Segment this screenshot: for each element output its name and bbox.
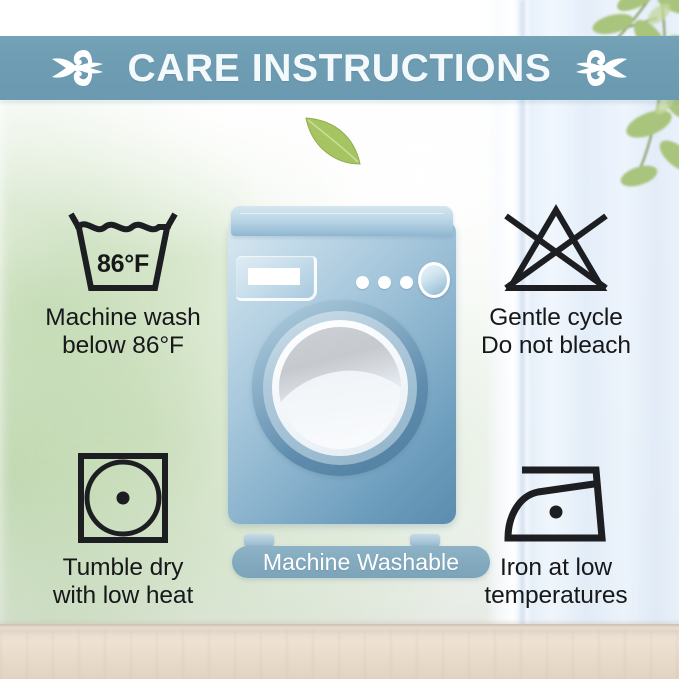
washing-machine-illustration <box>228 206 456 536</box>
care-symbol-machine-wash: 86°F Machine wash below 86°F <box>8 192 238 360</box>
wash-temperature-value: 86°F <box>65 250 181 279</box>
care-symbol-label-machine-wash: Machine wash below 86°F <box>8 304 238 360</box>
do-not-bleach-triangle-icon <box>498 202 614 296</box>
washer-body <box>228 222 456 524</box>
washer-indicator-dot <box>400 276 413 289</box>
washer-door-outer-ring <box>252 300 428 476</box>
header-banner: CARE INSTRUCTIONS <box>0 36 679 100</box>
fleur-de-lis-icon-left <box>51 46 109 90</box>
wash-tub-icon: 86°F <box>65 206 181 296</box>
washer-indicator-dot <box>378 276 391 289</box>
iron-low-temperature-icon <box>500 462 612 546</box>
washer-door-white-ring <box>272 320 408 456</box>
washer-detergent-drawer <box>236 256 317 301</box>
washer-control-knob <box>418 262 450 298</box>
washer-top-lid <box>231 206 453 236</box>
tumble-dry-low-icon <box>75 450 171 546</box>
floating-leaf-icon <box>300 114 368 176</box>
care-symbol-do-not-bleach: Gentle cycle Do not bleach <box>441 192 671 360</box>
care-symbol-tumble-dry: Tumble dry with low heat <box>8 442 238 610</box>
washer-door-mid-ring <box>263 311 417 465</box>
care-symbol-iron-low: Iron at low temperatures <box>441 442 671 610</box>
washer-door-glass <box>279 327 401 449</box>
washer-indicator-dot <box>356 276 369 289</box>
washer-drawer-slot <box>248 268 300 285</box>
care-instructions-infographic: CARE INSTRUCTIONS <box>0 0 679 679</box>
care-symbol-label-do-not-bleach: Gentle cycle Do not bleach <box>441 304 671 360</box>
fleur-de-lis-icon-right <box>570 46 628 90</box>
washer-lid-seam <box>240 213 444 214</box>
care-symbol-label-tumble-dry: Tumble dry with low heat <box>8 554 238 610</box>
washer-door-glass-highlight <box>279 358 401 449</box>
page-title: CARE INSTRUCTIONS <box>127 49 551 88</box>
machine-washable-badge: Machine Washable <box>232 546 490 578</box>
wood-surface-grain <box>0 630 679 679</box>
machine-washable-badge-label: Machine Washable <box>263 551 459 574</box>
